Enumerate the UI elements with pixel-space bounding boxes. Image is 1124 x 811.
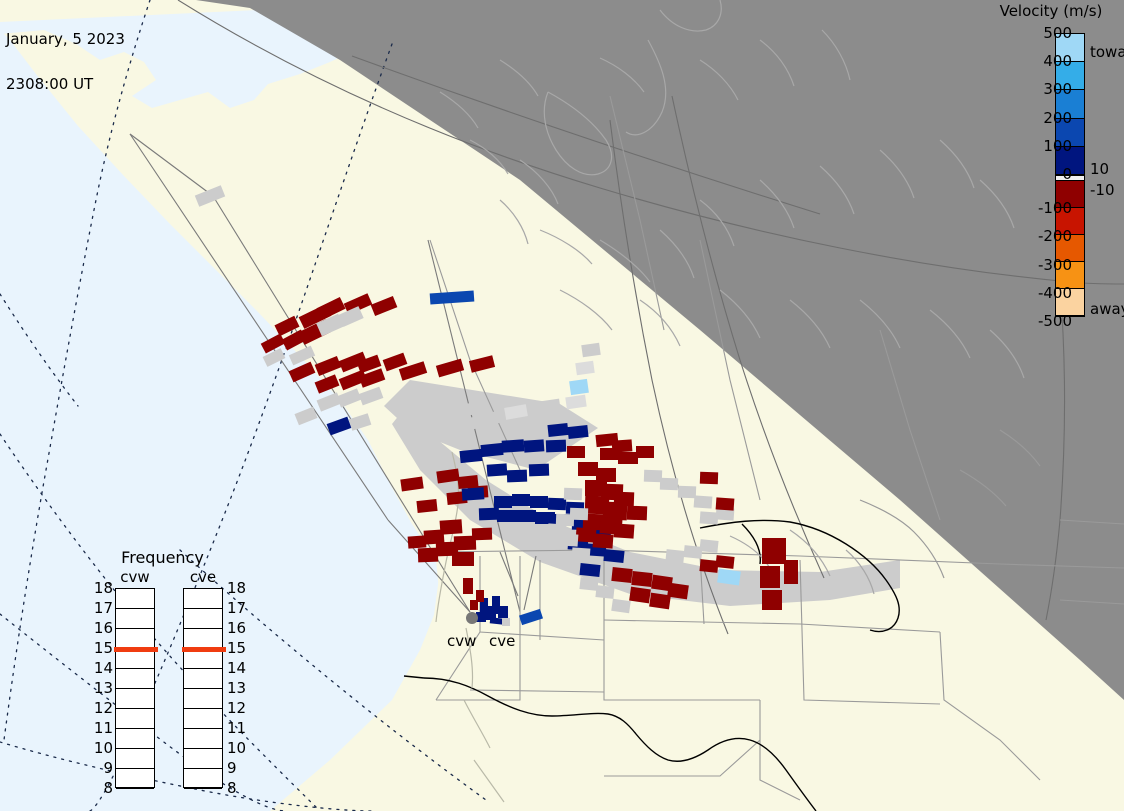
frequency-tick-right-13: 13: [227, 679, 246, 697]
colorbar-pos-threshold: 10: [1090, 160, 1109, 178]
frequency-title: Frequency: [95, 548, 230, 567]
frequency-row: [184, 629, 222, 649]
colorbar-tick--400: -400: [1012, 284, 1072, 302]
colorbar-tick-500: 500: [1012, 24, 1072, 42]
frequency-tick-right-8: 8: [227, 779, 237, 797]
frequency-row: [184, 609, 222, 629]
frequency-row: [116, 729, 154, 749]
colorbar-tick-100: 100: [1012, 137, 1072, 155]
colorbar-away-label: away: [1090, 300, 1124, 318]
colorbar-toward-label: toward: [1090, 43, 1124, 61]
colorbar-title: Velocity (m/s): [978, 2, 1124, 20]
frequency-tick-left-18: 18: [91, 579, 113, 597]
frequency-row: [184, 649, 222, 669]
frequency-tick-left-8: 8: [91, 779, 113, 797]
frequency-marker-cve: [182, 647, 226, 652]
site-label-cve: cve: [489, 632, 515, 650]
colorbar-tick--300: -300: [1012, 256, 1072, 274]
colorbar-tick-200: 200: [1012, 109, 1072, 127]
frequency-row: [184, 589, 222, 609]
frequency-scale-cve: [183, 588, 223, 788]
frequency-row: [184, 689, 222, 709]
frequency-row: [116, 709, 154, 729]
frequency-tick-right-11: 11: [227, 719, 246, 737]
frequency-tick-left-11: 11: [91, 719, 113, 737]
frequency-legend: Frequency cvw cve 18171615141312111098 1…: [95, 548, 230, 798]
frequency-scale-cvw: [115, 588, 155, 788]
frequency-tick-left-16: 16: [91, 619, 113, 637]
colorbar-tick-400: 400: [1012, 52, 1072, 70]
frequency-row: [116, 629, 154, 649]
frequency-header-cve: cve: [183, 568, 223, 586]
colorbar-tick--100: -100: [1012, 199, 1072, 217]
frequency-row: [184, 669, 222, 689]
frequency-row: [116, 749, 154, 769]
colorbar-tick--500: -500: [1012, 312, 1072, 330]
frequency-tick-left-10: 10: [91, 739, 113, 757]
colorbar-tick--200: -200: [1012, 227, 1072, 245]
site-label-cvw: cvw: [447, 632, 476, 650]
frequency-tick-right-18: 18: [227, 579, 246, 597]
title-date: January, 5 2023: [6, 32, 125, 47]
frequency-row: [184, 769, 222, 789]
frequency-row: [116, 689, 154, 709]
timestamp-block: January, 5 2023 2308:00 UT: [6, 2, 125, 122]
frequency-header-cvw: cvw: [115, 568, 155, 586]
frequency-row: [116, 649, 154, 669]
frequency-tick-right-17: 17: [227, 599, 246, 617]
frequency-row: [116, 589, 154, 609]
frequency-tick-right-16: 16: [227, 619, 246, 637]
colorbar-neg-threshold: -10: [1090, 181, 1115, 199]
colorbar-tick-300: 300: [1012, 80, 1072, 98]
frequency-row: [116, 669, 154, 689]
frequency-row: [184, 709, 222, 729]
frequency-tick-right-14: 14: [227, 659, 246, 677]
frequency-marker-cvw: [114, 647, 158, 652]
frequency-row: [116, 769, 154, 789]
frequency-tick-right-15: 15: [227, 639, 246, 657]
title-time: 2308:00 UT: [6, 77, 125, 92]
frequency-tick-right-9: 9: [227, 759, 237, 777]
frequency-tick-left-15: 15: [91, 639, 113, 657]
frequency-row: [184, 729, 222, 749]
frequency-tick-left-9: 9: [91, 759, 113, 777]
radar-site-dot: [466, 612, 478, 624]
frequency-row: [184, 749, 222, 769]
frequency-tick-left-14: 14: [91, 659, 113, 677]
frequency-tick-left-12: 12: [91, 699, 113, 717]
radar-map-view: January, 5 2023 2308:00 UT cvw cve Veloc…: [0, 0, 1124, 811]
frequency-tick-right-12: 12: [227, 699, 246, 717]
velocity-colorbar: Velocity (m/s) 5004003002001000-100-200-…: [978, 0, 1124, 330]
frequency-tick-left-13: 13: [91, 679, 113, 697]
frequency-tick-right-10: 10: [227, 739, 246, 757]
colorbar-tick-0: 0: [1012, 165, 1072, 183]
frequency-tick-left-17: 17: [91, 599, 113, 617]
frequency-row: [116, 609, 154, 629]
